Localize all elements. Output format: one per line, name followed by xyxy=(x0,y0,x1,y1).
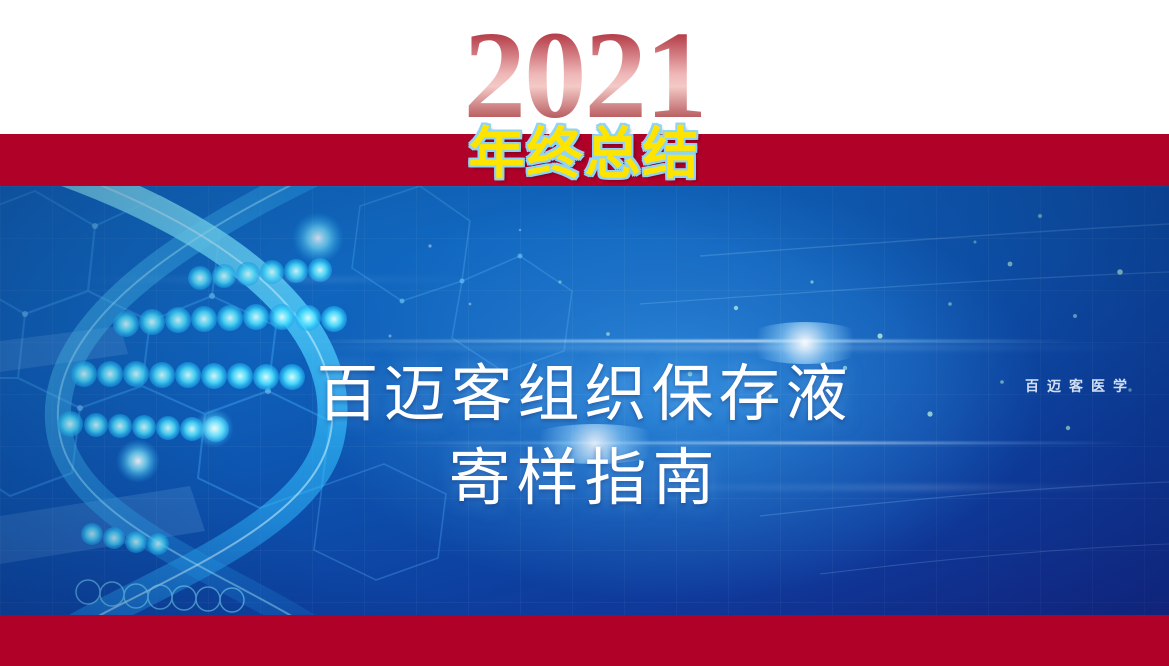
headline-line-2: 寄样指南 xyxy=(0,436,1169,520)
year-title: 2021 xyxy=(0,14,1169,139)
subtitle-annual-summary: 年终总结 xyxy=(0,124,1169,186)
slide-canvas: 2021 年终总结 xyxy=(0,0,1169,666)
bottom-red-band xyxy=(0,615,1169,666)
headline-line-1: 百迈客组织保存液 xyxy=(0,352,1169,436)
main-headline: 百迈客组织保存液 寄样指南 xyxy=(0,352,1169,520)
